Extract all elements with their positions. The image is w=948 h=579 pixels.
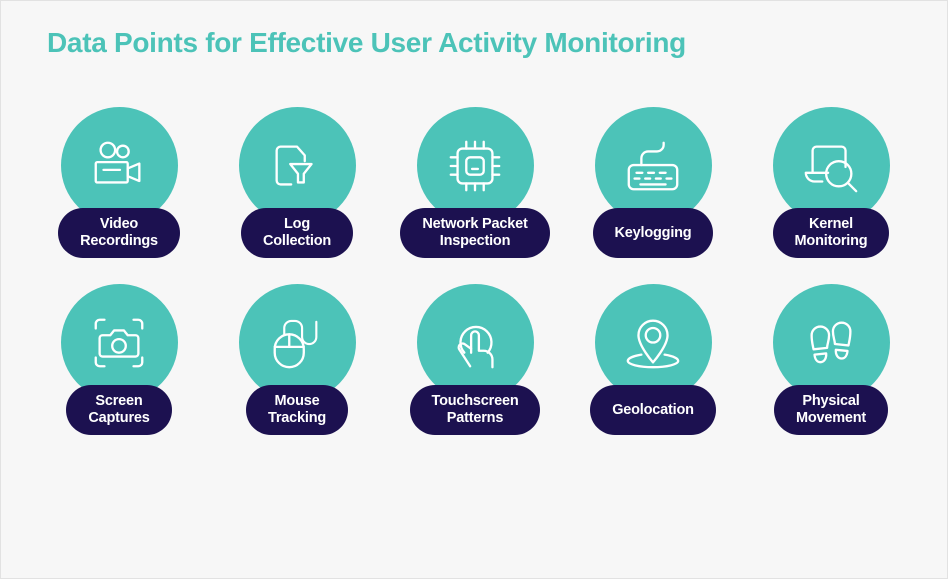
data-point-card-screen-captures[interactable]: Screen Captures	[30, 284, 208, 435]
data-point-label[interactable]: Touchscreen Patterns	[410, 385, 541, 435]
data-point-label[interactable]: Mouse Tracking	[246, 385, 348, 435]
label-line-1: Video	[100, 216, 138, 233]
icon-circle	[773, 284, 890, 401]
laptop-magnifier-icon	[800, 135, 862, 197]
icon-circle	[239, 107, 356, 224]
data-point-label[interactable]: Video Recordings	[58, 208, 180, 258]
data-point-card-touchscreen-patterns[interactable]: Touchscreen Patterns	[386, 284, 564, 435]
label-line-1: Touchscreen	[432, 393, 519, 410]
data-point-label[interactable]: Keylogging	[593, 208, 714, 258]
map-pin-icon	[622, 312, 684, 374]
label-line-1: Log	[284, 216, 310, 233]
data-point-card-physical-movement[interactable]: Physical Movement	[742, 284, 920, 435]
infographic-canvas: Data Points for Effective User Activity …	[0, 0, 948, 579]
icon-circle	[595, 284, 712, 401]
label-line-1: Keylogging	[615, 225, 692, 242]
data-point-card-log-collection[interactable]: Log Collection	[208, 107, 386, 258]
label-line-2: Inspection	[440, 233, 511, 250]
page-title: Data Points for Effective User Activity …	[47, 27, 686, 59]
computer-mouse-icon	[266, 312, 328, 374]
label-line-1: Mouse	[275, 393, 320, 410]
data-point-label[interactable]: Log Collection	[241, 208, 353, 258]
data-point-label[interactable]: Geolocation	[590, 385, 716, 435]
icon-circle	[595, 107, 712, 224]
data-point-label[interactable]: Kernel Monitoring	[773, 208, 890, 258]
data-point-card-keylogging[interactable]: Keylogging	[564, 107, 742, 258]
label-line-2: Collection	[263, 233, 331, 250]
cpu-chip-icon	[444, 135, 506, 197]
label-line-2: Captures	[88, 410, 149, 427]
data-point-card-mouse-tracking[interactable]: Mouse Tracking	[208, 284, 386, 435]
label-line-2: Patterns	[447, 410, 503, 427]
icon-circle	[417, 107, 534, 224]
keyboard-cable-icon	[622, 135, 684, 197]
document-filter-icon	[266, 135, 328, 197]
footprints-icon	[800, 312, 862, 374]
data-point-card-kernel-monitoring[interactable]: Kernel Monitoring	[742, 107, 920, 258]
label-line-2: Movement	[796, 410, 866, 427]
label-line-2: Monitoring	[795, 233, 868, 250]
icon-circle	[61, 284, 178, 401]
tap-gesture-icon	[444, 312, 506, 374]
label-line-1: Screen	[95, 393, 142, 410]
label-line-1: Geolocation	[612, 402, 694, 419]
label-line-2: Tracking	[268, 410, 326, 427]
data-point-card-video-recordings[interactable]: Video Recordings	[30, 107, 208, 258]
icon-circle	[61, 107, 178, 224]
label-line-1: Network Packet	[422, 216, 527, 233]
grid-row: Video Recordings Log Collection	[1, 107, 948, 258]
label-line-1: Physical	[802, 393, 859, 410]
icon-circle	[417, 284, 534, 401]
grid-row: Screen Captures Mouse Tracking	[1, 284, 948, 435]
data-point-label[interactable]: Physical Movement	[774, 385, 888, 435]
icon-circle	[773, 107, 890, 224]
data-point-label[interactable]: Network Packet Inspection	[400, 208, 549, 258]
icon-circle	[239, 284, 356, 401]
camera-frame-icon	[88, 312, 150, 374]
label-line-1: Kernel	[809, 216, 853, 233]
data-point-label[interactable]: Screen Captures	[66, 385, 171, 435]
data-point-card-network-packet-inspection[interactable]: Network Packet Inspection	[386, 107, 564, 258]
data-point-card-geolocation[interactable]: Geolocation	[564, 284, 742, 435]
video-camera-icon	[88, 135, 150, 197]
data-points-grid: Video Recordings Log Collection	[1, 107, 948, 435]
label-line-2: Recordings	[80, 233, 158, 250]
